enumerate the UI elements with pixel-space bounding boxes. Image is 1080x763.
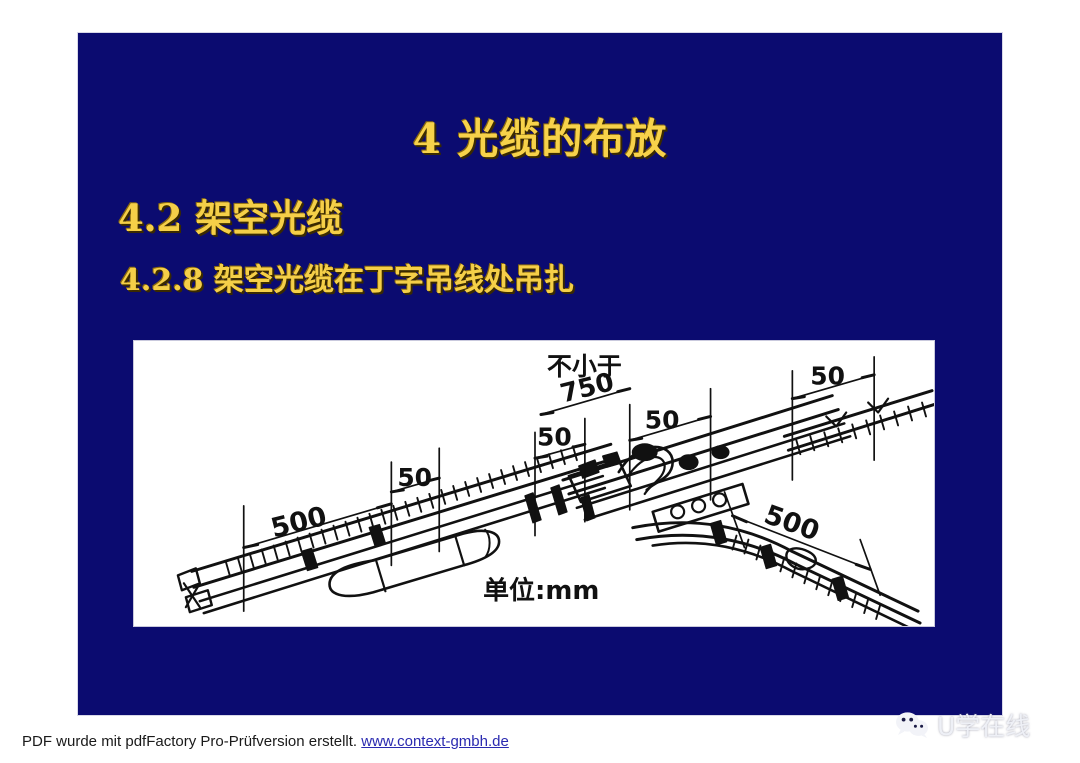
section-heading: 4.2 架空光缆: [118, 188, 343, 242]
dim-label-left-50: 50: [397, 463, 432, 492]
subsection-heading: 4.2.8 架空光缆在丁字吊线处吊扎: [120, 255, 574, 299]
dim-label-top-50-a: 50: [537, 422, 572, 451]
footer-text: PDF wurde mit pdfFactory Pro-Prüfversion…: [22, 733, 361, 750]
cable-suspension-drawing: 不小于 750 50 50 50 500 50 500 单位:mm: [134, 341, 934, 626]
dim-label-top-50-c: 50: [810, 362, 845, 391]
technical-diagram-figure: 不小于 750 50 50 50 500 50 500 单位:mm: [133, 340, 935, 627]
wechat-icon: [895, 711, 929, 739]
page-title: 4 光缆的布放: [78, 105, 1002, 165]
presentation-slide: 4 光缆的布放 4.2 架空光缆 4.2.8 架空光缆在丁字吊线处吊扎: [78, 33, 1002, 715]
figure-unit-caption: 单位:mm: [483, 575, 599, 606]
dim-label-top-50-b: 50: [645, 405, 680, 434]
dim-label-left-500: 500: [268, 501, 330, 545]
footer-link[interactable]: www.context-gmbh.de: [361, 733, 509, 750]
pdf-footer-notice: PDF wurde mit pdfFactory Pro-Prüfversion…: [22, 733, 509, 750]
